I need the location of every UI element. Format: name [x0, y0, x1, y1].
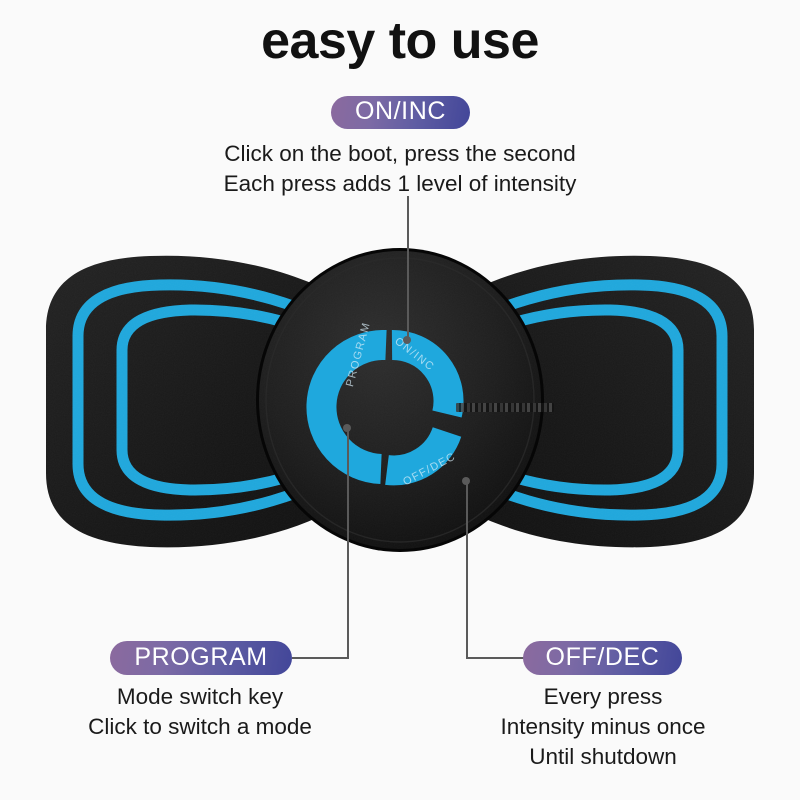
leader-dot-program — [343, 424, 351, 432]
brand-emboss — [456, 403, 554, 412]
device-center-disc — [256, 248, 544, 552]
device-left-wing — [46, 256, 372, 548]
leader-dot-off-dec — [462, 477, 470, 485]
device-right-wing — [428, 256, 754, 548]
ring-segment-on-inc — [392, 345, 449, 414]
ring-segment-off-dec — [387, 432, 447, 470]
ring-segment-program — [321, 345, 386, 469]
leader-line-on-inc — [407, 196, 409, 340]
callout-description-program: Mode switch key Click to switch a mode — [0, 682, 400, 742]
callout-pill-program[interactable]: PROGRAM — [110, 641, 292, 675]
product-infographic: ON/INC PROGRAM OFF/DEC easy to use ON/IN… — [0, 0, 800, 800]
leader-line-off-dec-vertical — [466, 480, 468, 658]
ring-label-on-inc: ON/INC — [392, 335, 436, 373]
leader-line-off-dec-horizontal — [466, 657, 524, 659]
ring-label-off-dec: OFF/DEC — [401, 450, 458, 488]
callout-description-on-inc: Click on the boot, press the second Each… — [0, 139, 800, 199]
callout-description-off-dec: Every press Intensity minus once Until s… — [452, 682, 754, 772]
page-title: easy to use — [0, 14, 800, 69]
callout-pill-off-dec[interactable]: OFF/DEC — [523, 641, 682, 675]
leader-line-program-horizontal — [292, 657, 349, 659]
ring-label-program: PROGRAM — [344, 321, 373, 388]
leader-dot-on-inc — [403, 336, 411, 344]
callout-pill-on-inc[interactable]: ON/INC — [331, 96, 470, 129]
leader-line-program-vertical — [347, 427, 349, 658]
control-ring — [321, 345, 448, 470]
